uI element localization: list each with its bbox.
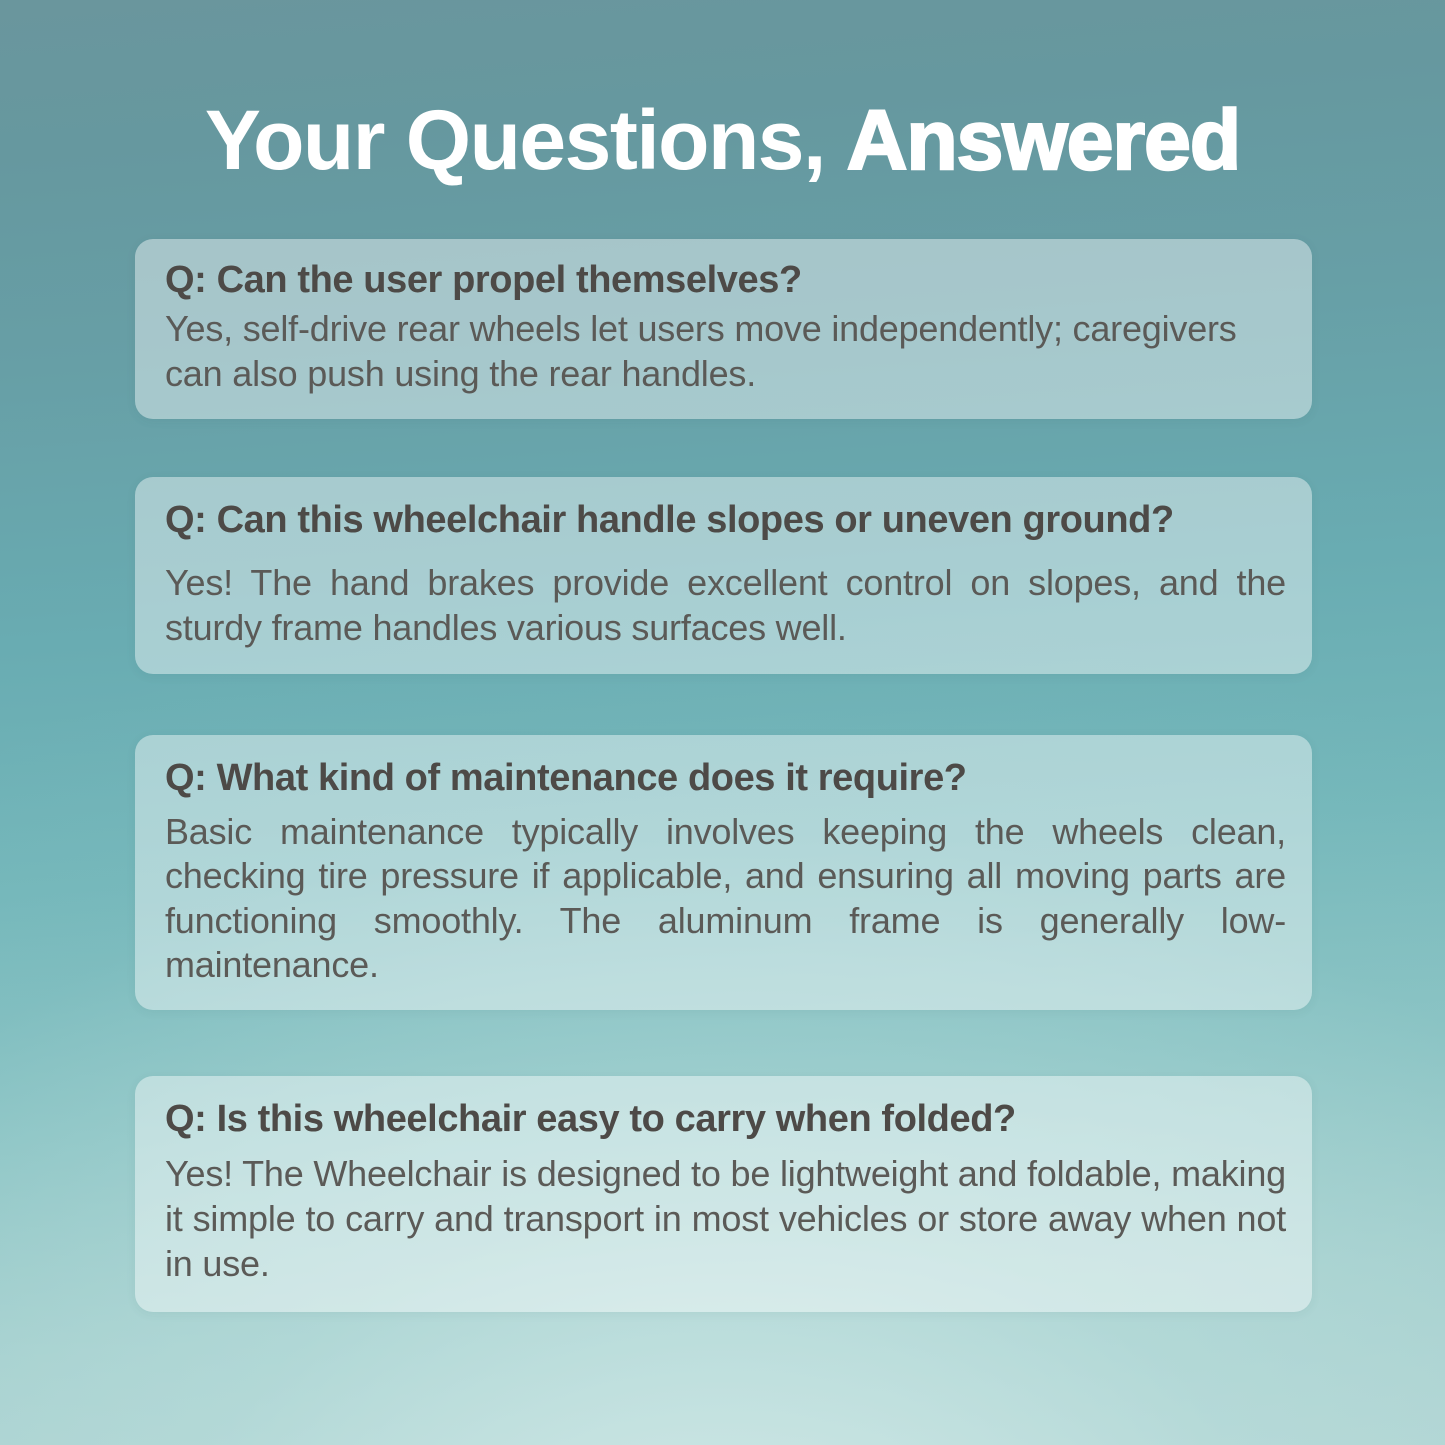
faq-answer: Yes, self-drive rear wheels let users mo… (165, 307, 1286, 396)
faq-item[interactable]: Q: Can the user propel themselves? Yes, … (135, 239, 1312, 419)
faq-spacer (135, 419, 1312, 477)
faq-item[interactable]: Q: Is this wheelchair easy to carry when… (135, 1076, 1312, 1312)
faq-list: Q: Can the user propel themselves? Yes, … (135, 239, 1312, 1312)
faq-question: Q: Can the user propel themselves? (165, 257, 1286, 303)
faq-answer: Yes! The Wheelchair is designed to be li… (165, 1152, 1286, 1286)
faq-spacer (135, 1010, 1312, 1076)
page-title-text: Your Questions, Answered (205, 98, 1240, 182)
page-title: Your Questions, Answered (0, 98, 1445, 182)
faq-question: Q: What kind of maintenance does it requ… (165, 755, 1286, 801)
faq-item[interactable]: Q: What kind of maintenance does it requ… (135, 735, 1312, 1010)
faq-spacer (135, 674, 1312, 735)
faq-question: Q: Can this wheelchair handle slopes or … (165, 497, 1286, 543)
page-title-strong-part: Answered (847, 93, 1240, 187)
faq-answer: Yes! The hand brakes provide excellent c… (165, 561, 1286, 650)
faq-item[interactable]: Q: Can this wheelchair handle slopes or … (135, 477, 1312, 675)
page-title-light-part: Your Questions, (205, 93, 847, 187)
faq-question: Q: Is this wheelchair easy to carry when… (165, 1096, 1286, 1142)
faq-answer: Basic maintenance typically involves kee… (165, 810, 1286, 989)
faq-poster: Your Questions, Answered Q: Can the user… (0, 0, 1445, 1445)
